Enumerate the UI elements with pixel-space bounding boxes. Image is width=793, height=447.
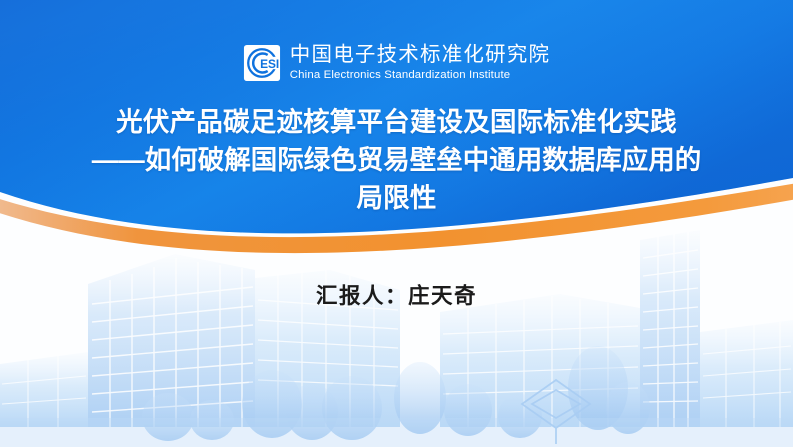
title-line-3: 局限性 bbox=[20, 179, 773, 217]
title-line-1: 光伏产品碳足迹核算平台建设及国际标准化实践 bbox=[20, 103, 773, 141]
brand-text: 中国电子技术标准化研究院 China Electronics Standardi… bbox=[290, 45, 550, 81]
presenter-label: 汇报人：庄天奇 bbox=[0, 279, 793, 310]
org-name-en: China Electronics Standardization Instit… bbox=[290, 70, 550, 81]
brand-lockup: ESI 中国电子技术标准化研究院 China Electronics Stand… bbox=[0, 44, 793, 82]
logo-letters: ESI bbox=[260, 57, 279, 71]
page-title: 光伏产品碳足迹核算平台建设及国际标准化实践 ——如何破解国际绿色贸易壁垒中通用数… bbox=[20, 103, 773, 217]
org-name-cn: 中国电子技术标准化研究院 bbox=[290, 45, 550, 66]
cesi-circle-logo-icon: ESI bbox=[243, 44, 281, 82]
title-line-2: ——如何破解国际绿色贸易壁垒中通用数据库应用的 bbox=[20, 141, 773, 179]
title-slide: ESI 中国电子技术标准化研究院 China Electronics Stand… bbox=[0, 0, 793, 447]
